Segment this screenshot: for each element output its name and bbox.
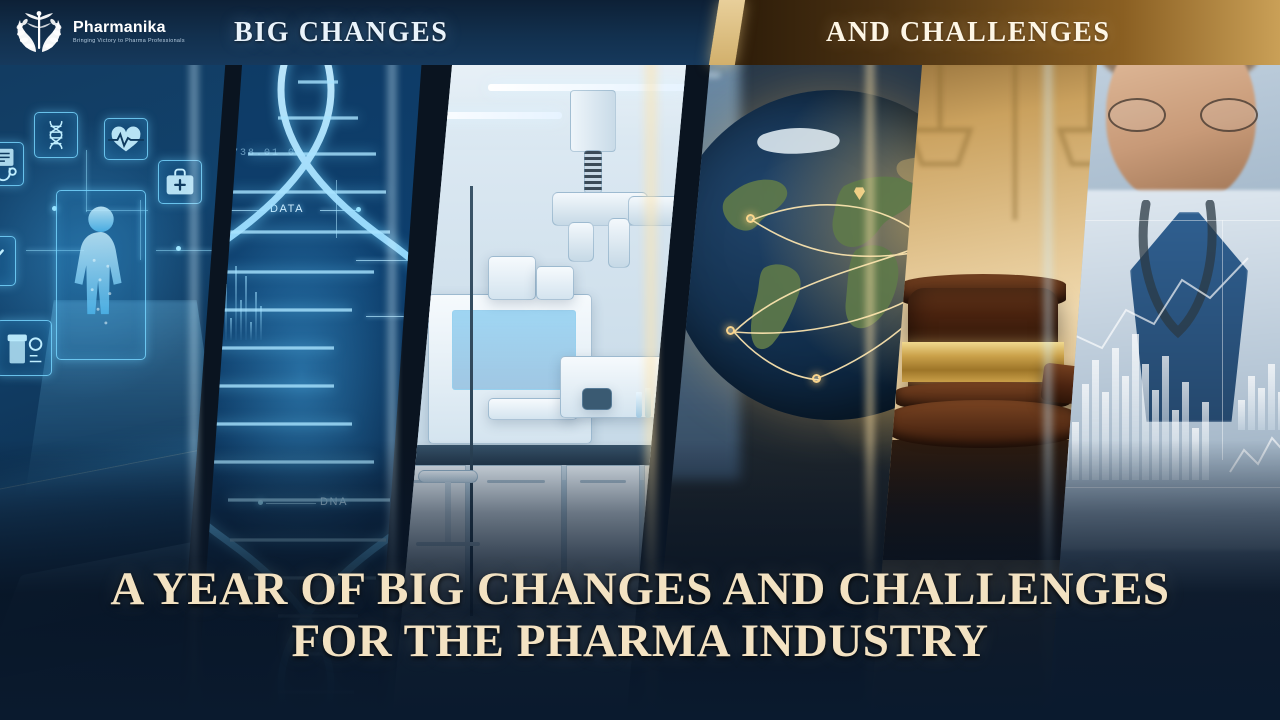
location-pin-icon (746, 214, 755, 223)
holo-connector (156, 250, 226, 251)
robot-column-housing (570, 90, 616, 152)
analytics-overlay (1048, 220, 1280, 550)
card-dna-icon (34, 112, 78, 158)
card-medical-bag-icon (158, 160, 202, 204)
robotic-arm-segment (568, 222, 594, 262)
banner-stage: 738.01 08 DATA DAS 10 DNA (0, 0, 1280, 720)
stool-stem (445, 482, 451, 542)
analyzer-top-module (536, 266, 574, 300)
gavel-gold-band (902, 342, 1064, 382)
robot-bellows (584, 150, 602, 194)
card-clipboard-stethoscope-icon (0, 142, 24, 186)
dna-icon (35, 113, 77, 157)
ceiling-light (412, 112, 562, 119)
card-pill-bottle-icon (0, 320, 52, 376)
brand-logo[interactable]: Pharmanika Bringing Victory to Pharma Pr… (14, 8, 185, 56)
sample-deck (560, 356, 680, 418)
gavel-ring-bottom (890, 400, 1076, 448)
header-bar: Pharmanika Bringing Victory to Pharma Pr… (0, 0, 1280, 65)
brand-tagline: Bringing Victory to Pharma Professionals (73, 38, 185, 44)
brand-name: Pharmanika (73, 20, 185, 37)
medical-bag-icon (159, 161, 201, 203)
main-title: A YEAR OF BIG CHANGES AND CHALLENGES FOR… (0, 563, 1280, 668)
robotic-arm-segment (608, 218, 630, 268)
eyeglasses-icon (1108, 98, 1258, 132)
pill-bottle-icon (0, 321, 51, 375)
laurel-wreath-caduceus-icon (14, 8, 64, 56)
iv-pole (470, 186, 473, 616)
location-pin-icon (726, 326, 735, 335)
human-body-hologram-icon (57, 191, 145, 359)
analyzer-top-module (488, 256, 536, 300)
stool-base (416, 542, 480, 546)
lab-bench-top (392, 445, 692, 465)
header-kicker-left: BIG CHANGES (234, 17, 448, 49)
holo-node (176, 246, 181, 251)
checklist-icon (0, 237, 15, 285)
robotic-arm-segment (628, 196, 680, 226)
hud-label-ten: 10 (410, 309, 425, 321)
title-line-1: A YEAR OF BIG CHANGES AND CHALLENGES (0, 563, 1280, 616)
title-line-2: FOR THE PHARMA INDUSTRY (0, 615, 1280, 668)
header-kicker-right: AND CHALLENGES (826, 17, 1111, 49)
brand-text: Pharmanika Bringing Victory to Pharma Pr… (73, 20, 185, 45)
location-pin-icon (812, 374, 821, 383)
hud-label-das: DAS (410, 253, 426, 265)
card-heartbeat-icon (104, 118, 148, 160)
analyzer-display (582, 388, 612, 410)
card-checklist-icon (0, 236, 16, 286)
heartbeat-icon (105, 119, 147, 159)
card-human-body-hologram-icon (56, 190, 146, 360)
line-chart-secondary (1226, 420, 1280, 490)
clipboard-stethoscope-icon (0, 143, 23, 185)
